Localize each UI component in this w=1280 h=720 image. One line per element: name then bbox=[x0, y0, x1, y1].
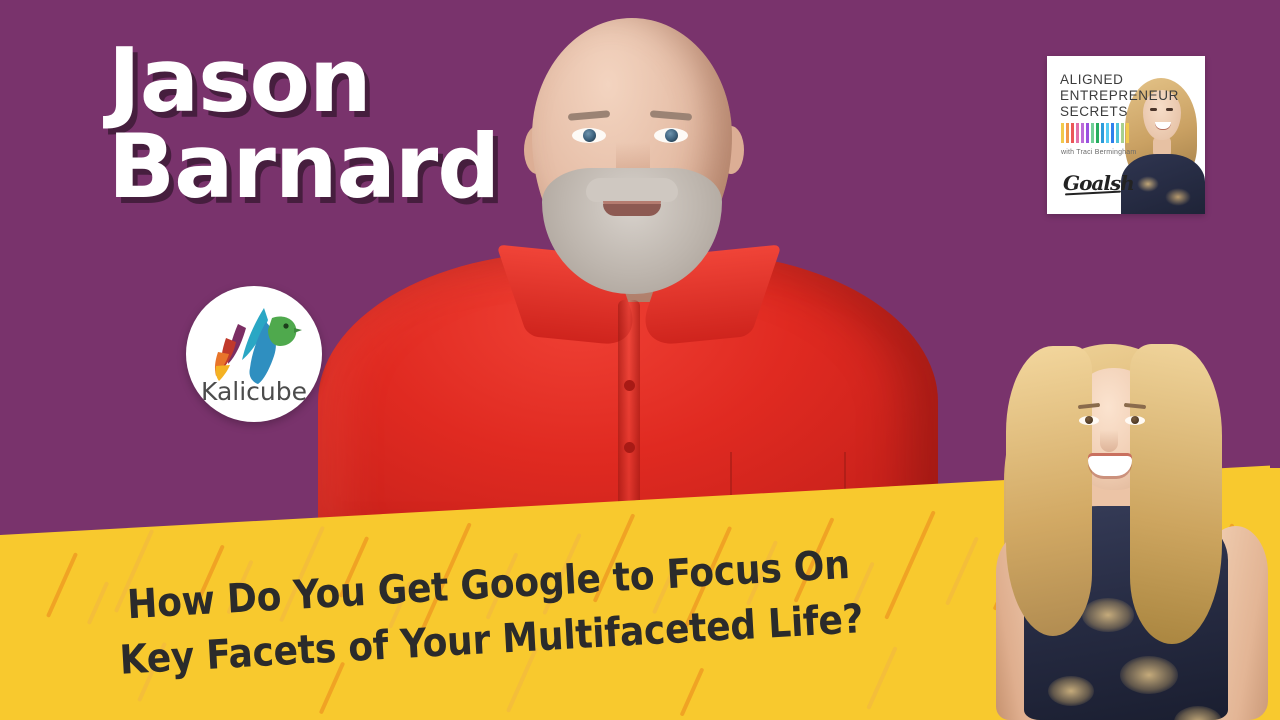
host-moustache bbox=[586, 178, 678, 202]
podcast-color-bar bbox=[1076, 123, 1079, 143]
podcast-color-bar bbox=[1126, 123, 1129, 143]
podcast-color-bar bbox=[1081, 123, 1084, 143]
guest-nose bbox=[1100, 430, 1118, 452]
guest-name-line-2: Barnard bbox=[108, 124, 538, 210]
guest-dress-floral-motif bbox=[1120, 656, 1178, 694]
guest-hair-front-right bbox=[1130, 344, 1222, 644]
podcast-title-line-2: ENTREPRENEUR bbox=[1060, 88, 1179, 104]
right-purple-strip bbox=[1270, 0, 1280, 468]
podcast-title-line-1: ALIGNED bbox=[1060, 72, 1179, 88]
podcast-color-bar bbox=[1086, 123, 1089, 143]
guest-name-line-1: Jason bbox=[108, 38, 538, 124]
podcast-color-bar bbox=[1096, 123, 1099, 143]
podcast-brand-logo: Goalsh bbox=[1063, 171, 1134, 195]
podcast-color-bar bbox=[1061, 123, 1064, 143]
podcast-color-bar bbox=[1106, 123, 1109, 143]
host-shirt-button bbox=[624, 442, 635, 453]
kalicube-wordmark: Kalicube bbox=[186, 377, 322, 406]
guest-eye-left bbox=[1079, 416, 1099, 425]
guest-name: Jason Barnard bbox=[108, 38, 538, 210]
host-eye-left bbox=[572, 128, 606, 143]
host-mouth bbox=[603, 204, 661, 216]
podcast-subtitle: with Traci Bermingham bbox=[1061, 149, 1136, 156]
podcast-cover-art[interactable]: ALIGNED ENTREPRENEUR SECRETS with Traci … bbox=[1047, 56, 1205, 214]
video-thumbnail: Jason Barnard Kalicube ALIGNED ENTREPREN… bbox=[0, 0, 1280, 720]
podcast-color-bar bbox=[1071, 123, 1074, 143]
podcast-color-bar bbox=[1066, 123, 1069, 143]
banner-streak bbox=[680, 667, 705, 716]
guest-hair-front-left bbox=[1006, 346, 1092, 636]
podcast-title-line-3: SECRETS bbox=[1060, 104, 1179, 120]
podcast-color-bar bbox=[1101, 123, 1104, 143]
podcast-color-bar bbox=[1111, 123, 1114, 143]
podcast-title: ALIGNED ENTREPRENEUR SECRETS bbox=[1060, 72, 1179, 120]
guest-photo bbox=[980, 330, 1280, 720]
banner-streak bbox=[866, 646, 897, 710]
podcast-color-bars bbox=[1061, 123, 1129, 143]
host-eye-right bbox=[654, 128, 688, 143]
podcast-color-bar bbox=[1121, 123, 1124, 143]
guest-smile bbox=[1088, 456, 1132, 476]
podcast-color-bar bbox=[1116, 123, 1119, 143]
podcast-color-bar bbox=[1091, 123, 1094, 143]
guest-dress-floral-motif bbox=[1048, 676, 1094, 706]
host-shirt-button bbox=[624, 380, 635, 391]
guest-eye-right bbox=[1125, 416, 1145, 425]
guest-dress-floral-motif bbox=[1082, 598, 1134, 632]
guest-dress-floral-motif bbox=[1174, 706, 1222, 720]
kalicube-logo[interactable]: Kalicube bbox=[186, 286, 322, 422]
